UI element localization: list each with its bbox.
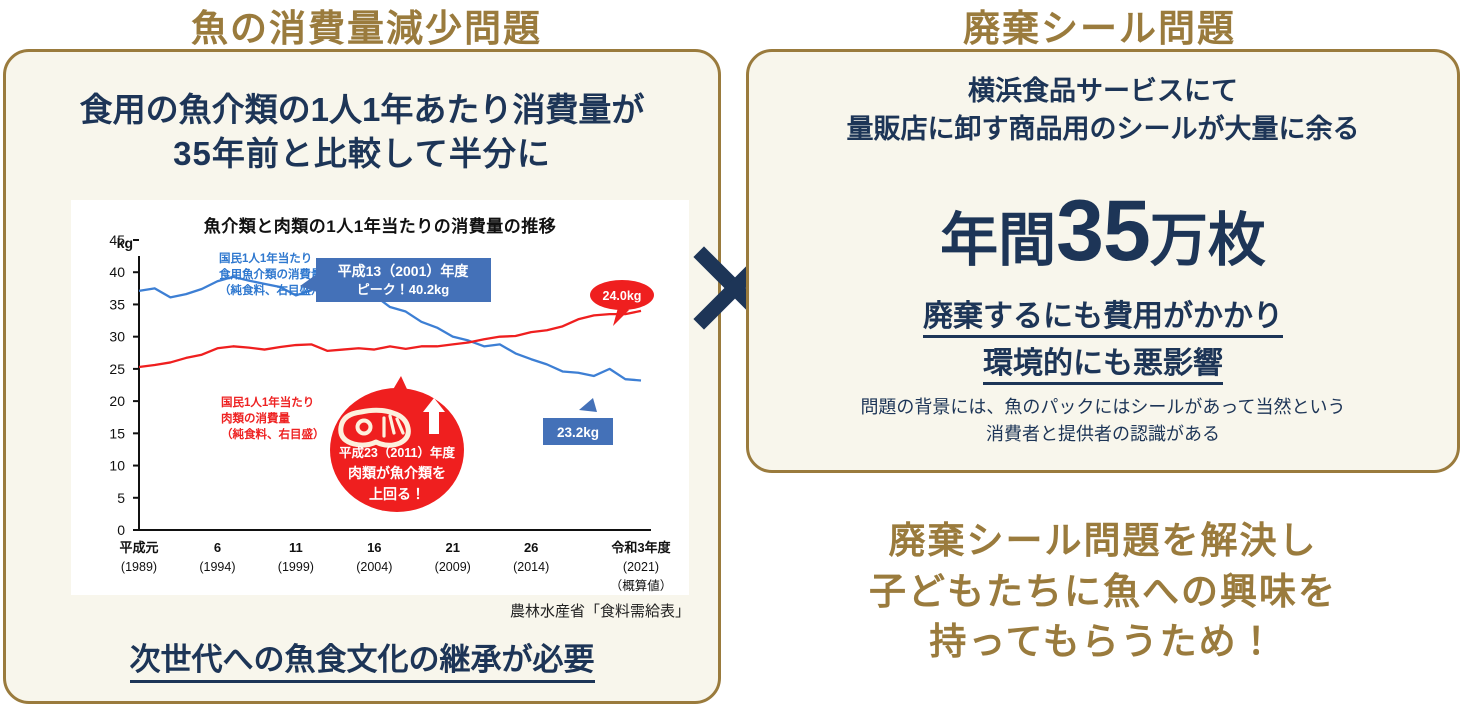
svg-text:平成23（2011）年度: 平成23（2011）年度 (339, 445, 456, 460)
right-note: 問題の背景には、魚のパックにはシールがあって当然という 消費者と提供者の認識があ… (746, 394, 1460, 448)
big-figure-prefix: 年間 (940, 208, 1056, 273)
svg-text:6: 6 (214, 540, 221, 555)
consumption-line-chart: 051015202530354045 kg 平成元(1989)6(1994)11… (71, 200, 689, 595)
right-underline-1-text: 廃棄するにも費用がかかり (923, 300, 1283, 338)
svg-text:15: 15 (109, 425, 125, 441)
svg-text:令和3年度: 令和3年度 (611, 540, 671, 555)
svg-text:24.0kg: 24.0kg (603, 289, 642, 303)
y-axis-unit-label: kg (117, 235, 133, 251)
meat-end-label: 24.0kg (590, 280, 654, 326)
left-lead-line2: 35年前と比較して半分に (3, 132, 721, 176)
svg-text:国民1人1年当たり: 国民1人1年当たり (221, 395, 314, 409)
svg-text:11: 11 (289, 540, 303, 555)
svg-text:40: 40 (109, 264, 125, 280)
svg-text:（概算値）: （概算値） (610, 578, 673, 593)
right-underline-2: 環境的にも悪影響 (746, 338, 1460, 382)
right-bottom-line2: 子どもたちに魚への興味を (746, 567, 1460, 618)
right-note-line1: 問題の背景には、魚のパックにはシールがあって当然という (746, 394, 1460, 421)
svg-text:(2009): (2009) (435, 560, 471, 574)
big-figure-suffix: 万枚 (1150, 208, 1266, 273)
svg-text:(1999): (1999) (278, 560, 314, 574)
svg-text:食用魚介類の消費量: 食用魚介類の消費量 (219, 267, 323, 281)
right-underline-2-text: 環境的にも悪影響 (983, 347, 1223, 385)
svg-text:(2004): (2004) (356, 560, 392, 574)
svg-text:国民1人1年当たり: 国民1人1年当たり (219, 251, 312, 265)
svg-text:ピーク！40.2kg: ピーク！40.2kg (357, 282, 450, 297)
chart-card: 魚介類と肉類の1人1年当たりの消費量の推移 051015202530354045… (71, 200, 689, 595)
svg-text:肉類が魚介類を: 肉類が魚介類を (348, 465, 446, 481)
svg-text:(1994): (1994) (199, 560, 235, 574)
right-top-text: 横浜食品サービスにて 量販店に卸す商品用のシールが大量に余る (746, 72, 1460, 149)
left-lead-text: 食用の魚介類の1人1年あたり消費量が 35年前と比較して半分に (3, 88, 721, 176)
svg-text:上回る！: 上回る！ (369, 486, 425, 502)
right-underline-1: 廃棄するにも費用がかかり (746, 291, 1460, 335)
chart-source-note: 農林水産省「食料需給表」 (0, 600, 690, 621)
svg-text:20: 20 (109, 393, 125, 409)
svg-text:30: 30 (109, 329, 125, 345)
svg-text:35: 35 (109, 296, 125, 312)
big-figure-number: 35 (1056, 183, 1150, 279)
peak-callout: 平成13（2001）年度 ピーク！40.2kg (300, 258, 491, 302)
left-section-heading: 魚の消費量減少問題 (0, 0, 733, 52)
legend-meat: 国民1人1年当たり 肉類の消費量 （純食料、右目盛） (221, 395, 325, 441)
infographic-root: 魚の消費量減少問題 食用の魚介類の1人1年あたり消費量が 35年前と比較して半分… (0, 0, 1466, 709)
right-note-line2: 消費者と提供者の認識がある (746, 421, 1460, 448)
svg-text:5: 5 (117, 490, 125, 506)
y-axis-tick-labels: 051015202530354045 (109, 232, 125, 538)
fish-end-label: 23.2kg (543, 398, 613, 445)
right-big-figure: 年間35万枚 (746, 182, 1460, 281)
svg-text:（純食料、右目盛）: （純食料、右目盛） (221, 427, 325, 441)
right-top-line1: 横浜食品サービスにて (746, 72, 1460, 110)
svg-text:(2014): (2014) (513, 560, 549, 574)
crossover-callout: 平成23（2011）年度 肉類が魚介類を 上回る！ (330, 376, 464, 512)
series-line-meat (139, 311, 641, 367)
svg-text:平成元: 平成元 (119, 540, 158, 555)
x-axis-tick-labels: 平成元(1989)6(1994)11(1999)16(2004)21(2009)… (119, 540, 672, 593)
legend-fish: 国民1人1年当たり 食用魚介類の消費量 （純食料、右目盛） (219, 251, 323, 297)
svg-text:(2021): (2021) (623, 560, 659, 574)
svg-text:21: 21 (446, 540, 460, 555)
right-top-line2: 量販店に卸す商品用のシールが大量に余る (746, 110, 1460, 148)
right-bottom-line1: 廃棄シール問題を解決し (746, 516, 1460, 567)
right-bottom-message: 廃棄シール問題を解決し 子どもたちに魚への興味を 持ってもらうため！ (746, 516, 1460, 668)
svg-text:23.2kg: 23.2kg (557, 425, 599, 440)
svg-text:(1989): (1989) (121, 560, 157, 574)
svg-text:25: 25 (109, 361, 125, 377)
right-bottom-line3: 持ってもらうため！ (746, 617, 1460, 668)
svg-text:16: 16 (367, 540, 381, 555)
svg-text:26: 26 (524, 540, 538, 555)
left-conclusion-text: 次世代への魚食文化の継承が必要 (130, 642, 595, 683)
left-lead-line1: 食用の魚介類の1人1年あたり消費量が (3, 88, 721, 132)
svg-text:10: 10 (109, 458, 125, 474)
right-section-heading: 廃棄シール問題 (733, 0, 1466, 52)
svg-text:0: 0 (117, 522, 125, 538)
svg-text:平成13（2001）年度: 平成13（2001）年度 (338, 263, 470, 279)
left-conclusion: 次世代への魚食文化の継承が必要 (3, 634, 721, 679)
svg-text:肉類の消費量: 肉類の消費量 (221, 411, 290, 425)
